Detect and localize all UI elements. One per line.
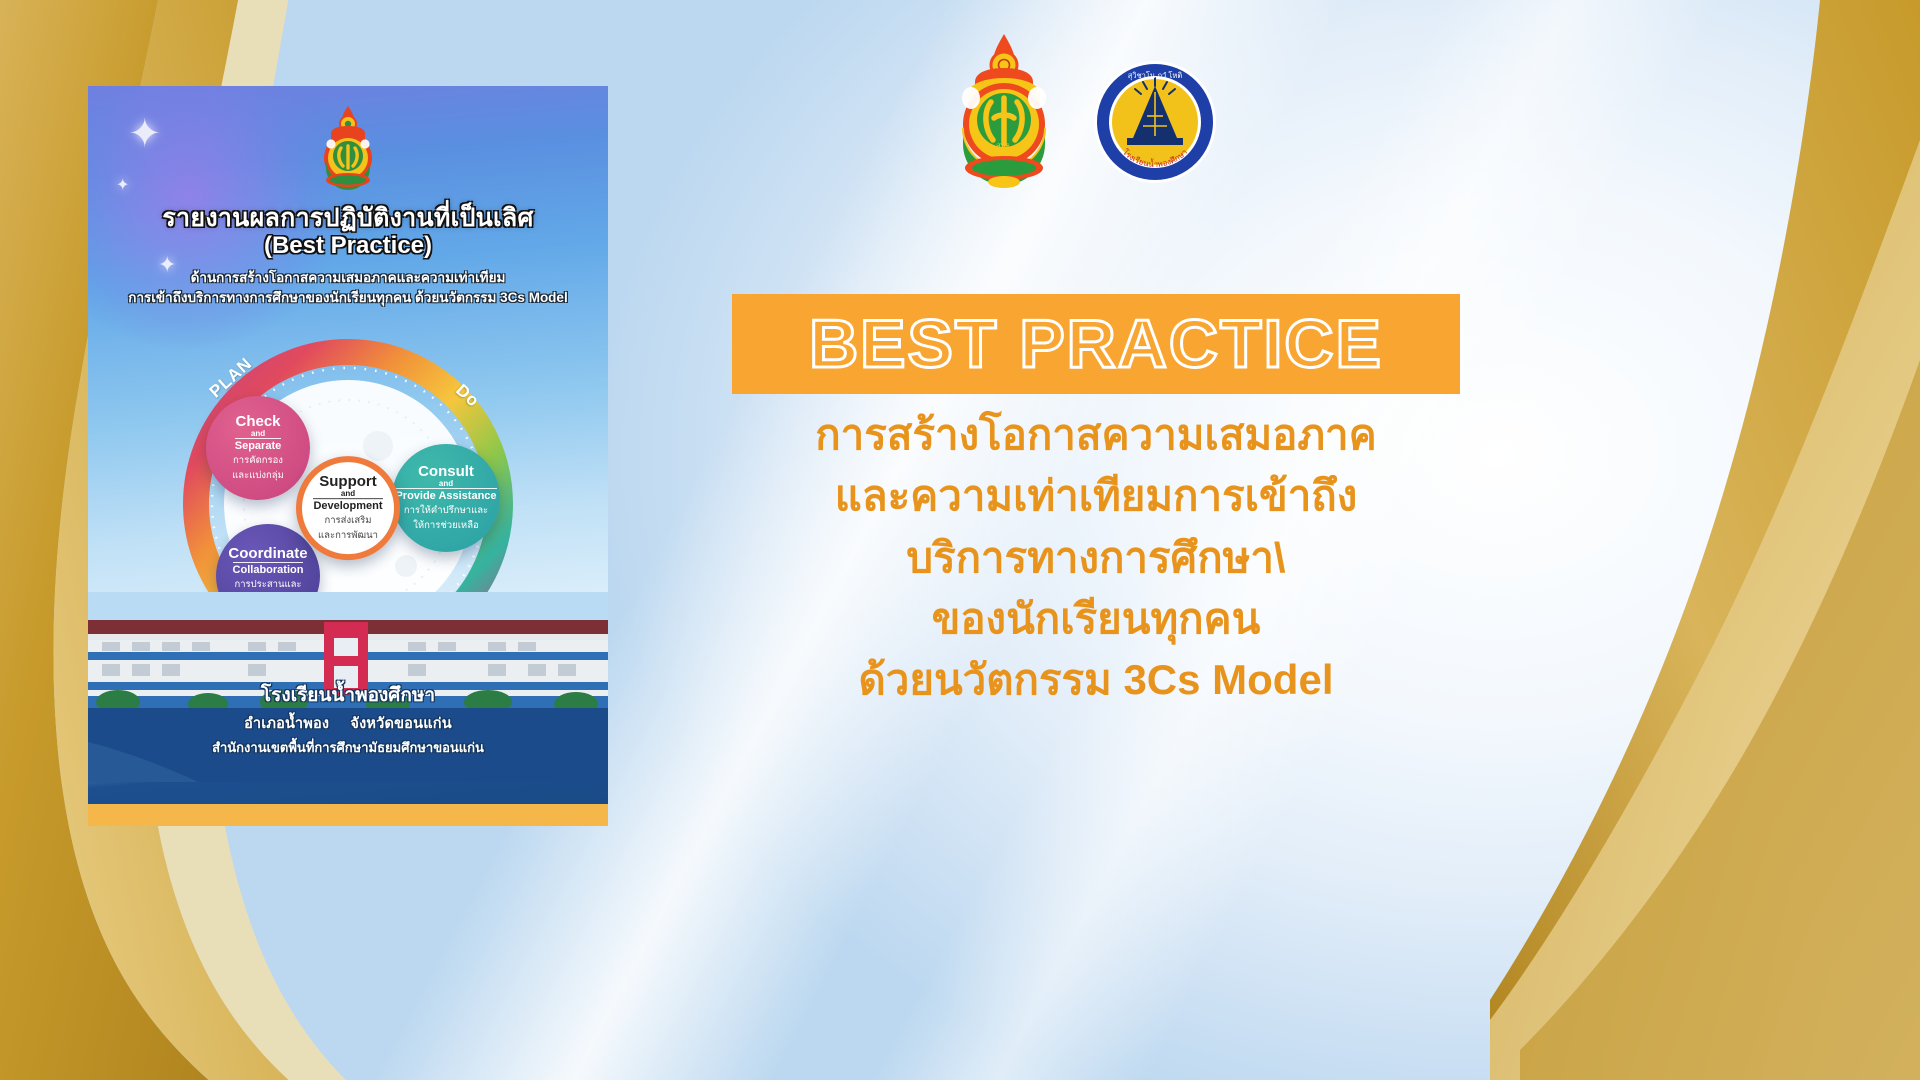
diagram-node-support: Support and Development การส่งเสริม และก… (296, 456, 400, 560)
node-and: and (251, 430, 265, 439)
poster-subtitle: ด้านการสร้างโอกาสความเสมอภาคและความเท่าเ… (100, 268, 596, 307)
poster-bottom-bar (88, 804, 608, 826)
node-thai-line1: การให้คำปรึกษาและ (404, 505, 488, 517)
poster-canvas: ✦ ✦ ✦ (88, 86, 608, 804)
obec-garuda-emblem (309, 104, 387, 196)
node-subtitle: Separate (235, 438, 281, 452)
school-emblem-motto: สุวิชาโน ภวํ โหติ (1128, 71, 1183, 80)
node-title: Consult (418, 464, 474, 480)
node-and: and (341, 490, 355, 499)
banner-stage: ✦ ✦ ✦ (0, 0, 1920, 1080)
node-thai-line1: การประสานและ (234, 579, 301, 591)
diagram-node-check: Check and Separate การคัดกรอง และแบ่งกลุ… (206, 396, 310, 500)
poster-subtitle-line1: ด้านการสร้างโอกาสความเสมอภาคและความเท่าเ… (100, 268, 596, 288)
node-title: Support (319, 474, 377, 490)
node-thai-line1: การส่งเสริม (324, 516, 371, 528)
headline-line-1: การสร้างโอกาสความเสมอภาค (716, 404, 1476, 465)
school-caption: โรงเรียนน้ำพองศึกษา อำเภอน้ำพอง จังหวัดข… (88, 680, 608, 758)
node-subtitle: Provide Assistance (395, 488, 496, 502)
school-province: จังหวัดขอนแก่น (350, 716, 451, 732)
school-building-photo: โรงเรียนน้ำพองศึกษา อำเภอน้ำพอง จังหวัดข… (88, 592, 608, 782)
sparkle-icon: ✦ (128, 114, 162, 154)
best-practice-poster: ✦ ✦ ✦ (88, 86, 608, 826)
school-location: อำเภอน้ำพอง จังหวัดขอนแก่น (88, 712, 608, 735)
school-name: โรงเรียนน้ำพองศึกษา (88, 680, 608, 710)
obec-garuda-emblem: สพฐ. (945, 32, 1063, 190)
node-title: Coordinate (228, 546, 307, 562)
poster-title-line2: (Best Practice) (88, 232, 608, 260)
svg-text:สพฐ.: สพฐ. (996, 141, 1012, 150)
namphong-suksa-school-emblem: สุวิชาโน ภวํ โหติ โรงเรียนน้ำพองศึกษา (1093, 60, 1217, 184)
diagram-node-consult: Consult and Provide Assistance การให้คำป… (392, 444, 500, 552)
node-subtitle: Collaboration (233, 562, 304, 576)
headline-line-3: บริการทางการศึกษา\ (716, 527, 1476, 588)
node-and: and (439, 480, 453, 489)
emblem-group: สพฐ. (945, 32, 1265, 212)
best-practice-label: BEST PRACTICE (809, 305, 1383, 383)
school-district: อำเภอน้ำพอง (244, 716, 329, 732)
node-thai-line1: การคัดกรอง (233, 455, 283, 467)
node-thai-line2: และการพัฒนา (318, 530, 378, 542)
headline-block: การสร้างโอกาสความเสมอภาค และความเท่าเทีย… (716, 404, 1476, 711)
node-thai-line2: และแบ่งกลุ่ม (232, 470, 284, 482)
headline-line-5: ด้วยนวัตกรรม 3Cs Model (716, 649, 1476, 710)
headline-line-4: ของนักเรียนทุกคน (716, 588, 1476, 649)
node-subtitle: Development (313, 499, 382, 513)
school-office: สำนักงานเขตพื้นที่การศึกษามัธยมศึกษาขอนแ… (88, 737, 608, 758)
best-practice-banner: BEST PRACTICE (732, 294, 1460, 394)
node-title: Check (235, 414, 280, 430)
node-thai-line2: ให้การช่วยเหลือ (413, 520, 478, 532)
sparkle-icon: ✦ (116, 178, 129, 194)
poster-subtitle-line2: การเข้าถึงบริการทางการศึกษาของนักเรียนทุ… (100, 288, 596, 308)
headline-line-2: และความเท่าเทียมการเข้าถึง (716, 465, 1476, 526)
